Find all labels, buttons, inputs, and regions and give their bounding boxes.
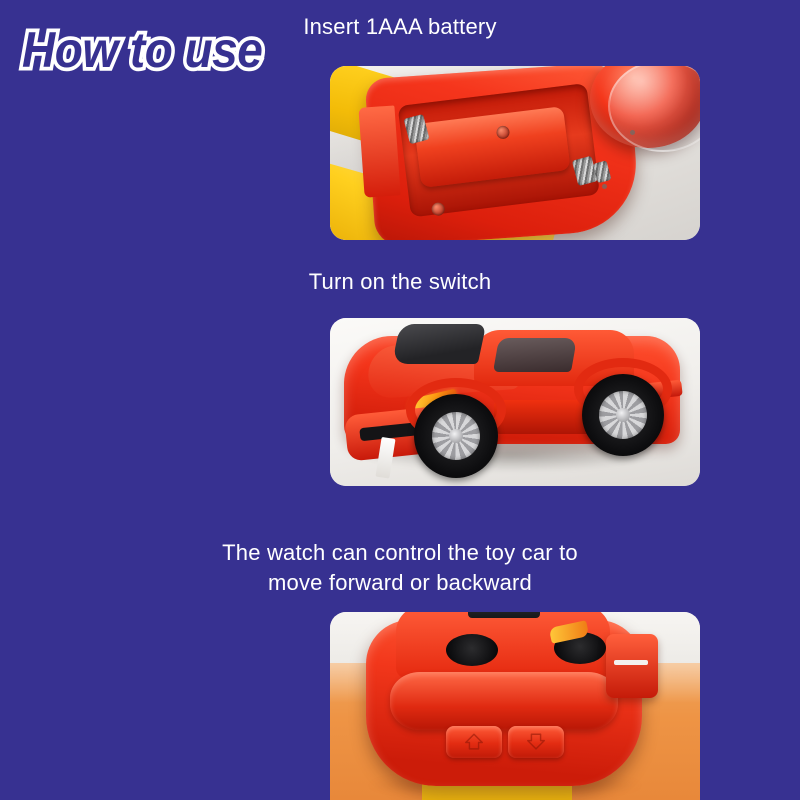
arrow-up-icon [463,731,485,753]
red-toy-car-photo [330,318,700,486]
surface-speck [602,184,607,189]
watch-battery-compartment-photo [330,66,700,240]
watch-control-buttons-photo [330,612,700,800]
car-side-window [493,338,577,372]
step-1-photo [330,66,700,240]
step-3-caption: The watch can control the toy car to mov… [0,538,800,598]
battery-compartment [398,83,600,217]
step-1-caption: Insert 1AAA battery [0,12,800,42]
car-wheel [446,634,498,666]
car-windshield [468,612,540,618]
wheel-hub [449,429,463,443]
step-2-photo [330,318,700,486]
surface-speck [630,130,635,135]
backward-button[interactable] [508,726,564,758]
clasp-slot [614,660,648,665]
step-3-photo [330,612,700,800]
car-windshield [392,324,487,364]
wheel-hub [616,408,630,422]
step-3-caption-line-1: The watch can control the toy car to [0,538,800,568]
car-rear-wheel [582,374,664,456]
watch-bezel [390,672,618,730]
car-shell-top [396,612,610,678]
step-2-caption: Turn on the switch [0,267,800,297]
step-3-caption-line-2: move forward or backward [0,568,800,598]
forward-button[interactable] [446,726,502,758]
watch-strap-clasp [606,634,658,698]
car-front-wheel [414,394,498,478]
wheel-rim [432,412,480,460]
battery-spring-contact [404,114,430,144]
arrow-down-icon [525,731,547,753]
watch-case [366,620,642,786]
case-screw [431,202,445,216]
battery-slot [414,106,571,188]
watch-case-lip [358,105,400,197]
wheel-rim [599,391,647,439]
